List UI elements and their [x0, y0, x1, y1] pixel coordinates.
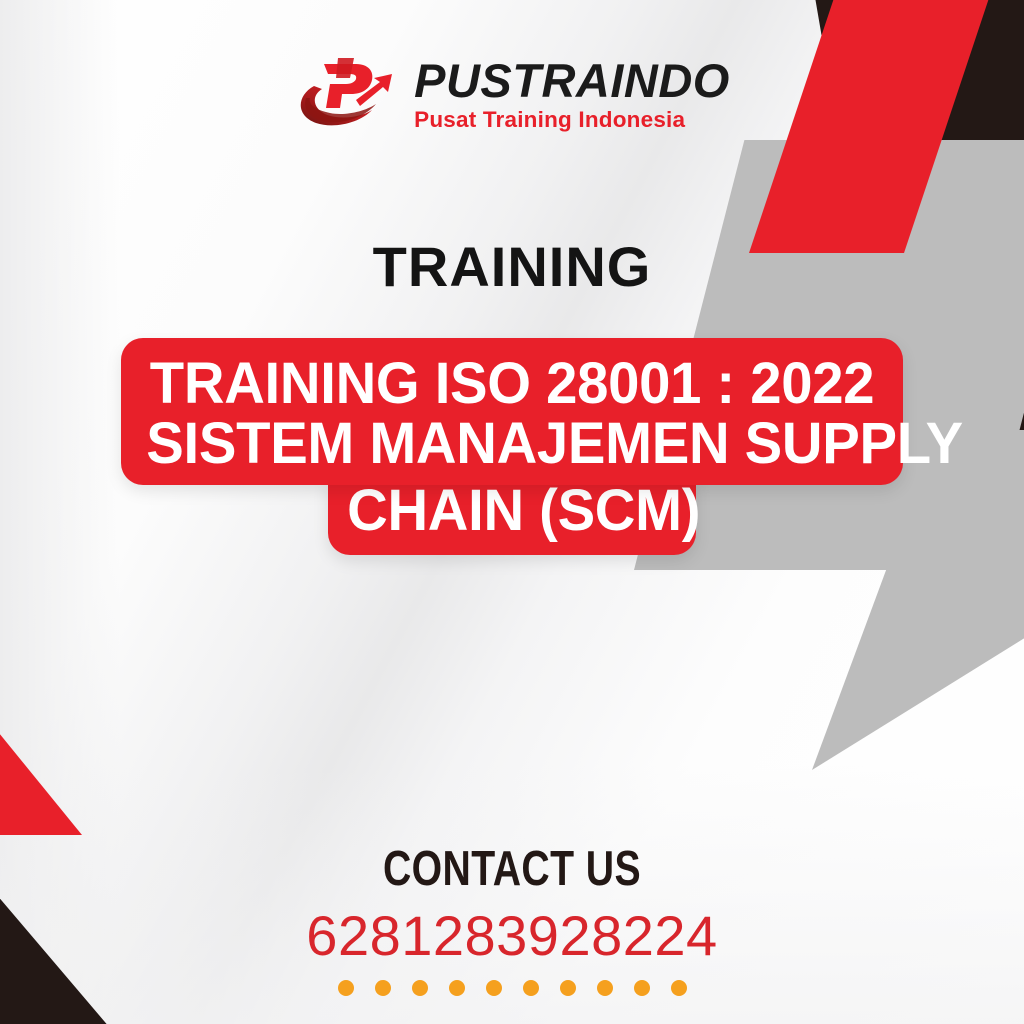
decorative-dot — [449, 980, 465, 996]
decorative-dot — [338, 980, 354, 996]
decorative-dot — [597, 980, 613, 996]
brand-name: PUSTRAINDO — [414, 57, 730, 104]
pustraindo-globe-arrow-logo-icon — [294, 52, 398, 136]
decorative-dot — [634, 980, 650, 996]
course-title-line-2: SISTEM MANAJEMEN SUPPLY — [146, 414, 877, 474]
poster-canvas: PUSTRAINDO Pusat Training Indonesia TRAI… — [0, 0, 1024, 1024]
contact-heading: CONTACT US — [102, 841, 921, 897]
decorative-dot — [486, 980, 502, 996]
eyebrow-heading: TRAINING — [0, 234, 1024, 299]
decorative-dot — [523, 980, 539, 996]
course-title-line-3: CHAIN (SCM) — [347, 481, 677, 541]
course-title-block-secondary: CHAIN (SCM) — [328, 477, 696, 555]
brand-tagline: Pusat Training Indonesia — [414, 109, 730, 132]
course-title-plaque: TRAINING ISO 28001 : 2022 SISTEM MANAJEM… — [0, 338, 1024, 555]
decorative-dot-row — [0, 980, 1024, 996]
decorative-dot — [560, 980, 576, 996]
contact-section: CONTACT US 6281283928224 — [0, 841, 1024, 996]
decorative-dot — [412, 980, 428, 996]
brand-logo-lockup: PUSTRAINDO Pusat Training Indonesia — [0, 52, 1024, 136]
course-title-block-primary: TRAINING ISO 28001 : 2022 SISTEM MANAJEM… — [121, 338, 903, 485]
course-title-line-1: TRAINING ISO 28001 : 2022 — [146, 354, 877, 414]
decorative-dot — [375, 980, 391, 996]
contact-phone-number[interactable]: 6281283928224 — [0, 903, 1024, 968]
decorative-dot — [671, 980, 687, 996]
